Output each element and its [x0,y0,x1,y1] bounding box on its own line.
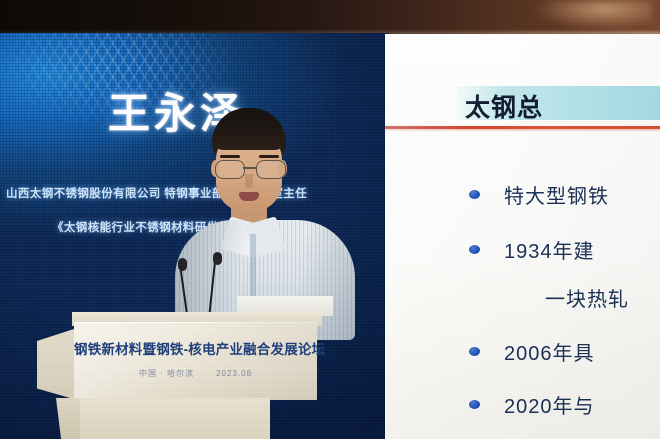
podium-base [80,398,270,439]
speaker-eyebrow-right [259,155,279,158]
slide-bullet-3: 2006年具 [469,337,595,366]
bullet-dot-icon [469,400,480,409]
speaker-eyebrow-left [220,155,240,158]
slide-red-divider [385,126,660,129]
podium-forum-title: 钢铁新材料暨钢铁-核电产业融合发展论坛 [74,338,317,358]
slide-bullet-1-text: 特大型钢铁 [504,180,609,209]
eyeglass-lens-left [215,160,245,179]
bullet-dot-icon [469,190,480,199]
podium-location: 中国 · 哈尔滨 [139,369,194,378]
microphone-head-left [178,258,187,271]
bullet-dot-icon [469,245,480,254]
projected-slide: 太钢总 特大型钢铁 1934年建 一块热轧 2006年具 2020年与 不锈钢的 [385,34,660,439]
microphone-head-right [213,252,222,265]
slide-title: 太钢总 [465,88,543,124]
speaker-nose [245,174,253,188]
eyeglass-lens-right [256,160,286,179]
slide-bullet-4: 2020年与 [469,390,595,419]
slide-bullet-2-text: 1934年建 [504,235,595,264]
slide-bullet-2: 1934年建 [469,235,595,264]
podium-forum-meta: 中国 · 哈尔滨2023.08 [74,368,317,379]
ceiling-light-glow [532,0,652,30]
slide-bullet-4-text: 2020年与 [504,390,595,419]
podium-front-panel [74,322,317,400]
bullet-dot-icon [469,347,480,356]
speaker-mouth [239,192,259,201]
eyeglass-bridge [243,167,257,169]
speaker-hair-fringe [214,124,284,150]
conference-photo: 王永泽 山西太钢不锈钢股份有限公司 特钢事业部市场开发室主任 《太钢核能行业不锈… [0,0,660,439]
slide-bullet-2-continuation-text: 一块热轧 [545,283,629,312]
podium-date: 2023.08 [216,369,252,378]
slide-bullet-2-continuation: 一块热轧 [469,283,629,312]
slide-bullet-1: 特大型钢铁 [469,180,609,209]
slide-bullet-3-text: 2006年具 [504,337,595,366]
